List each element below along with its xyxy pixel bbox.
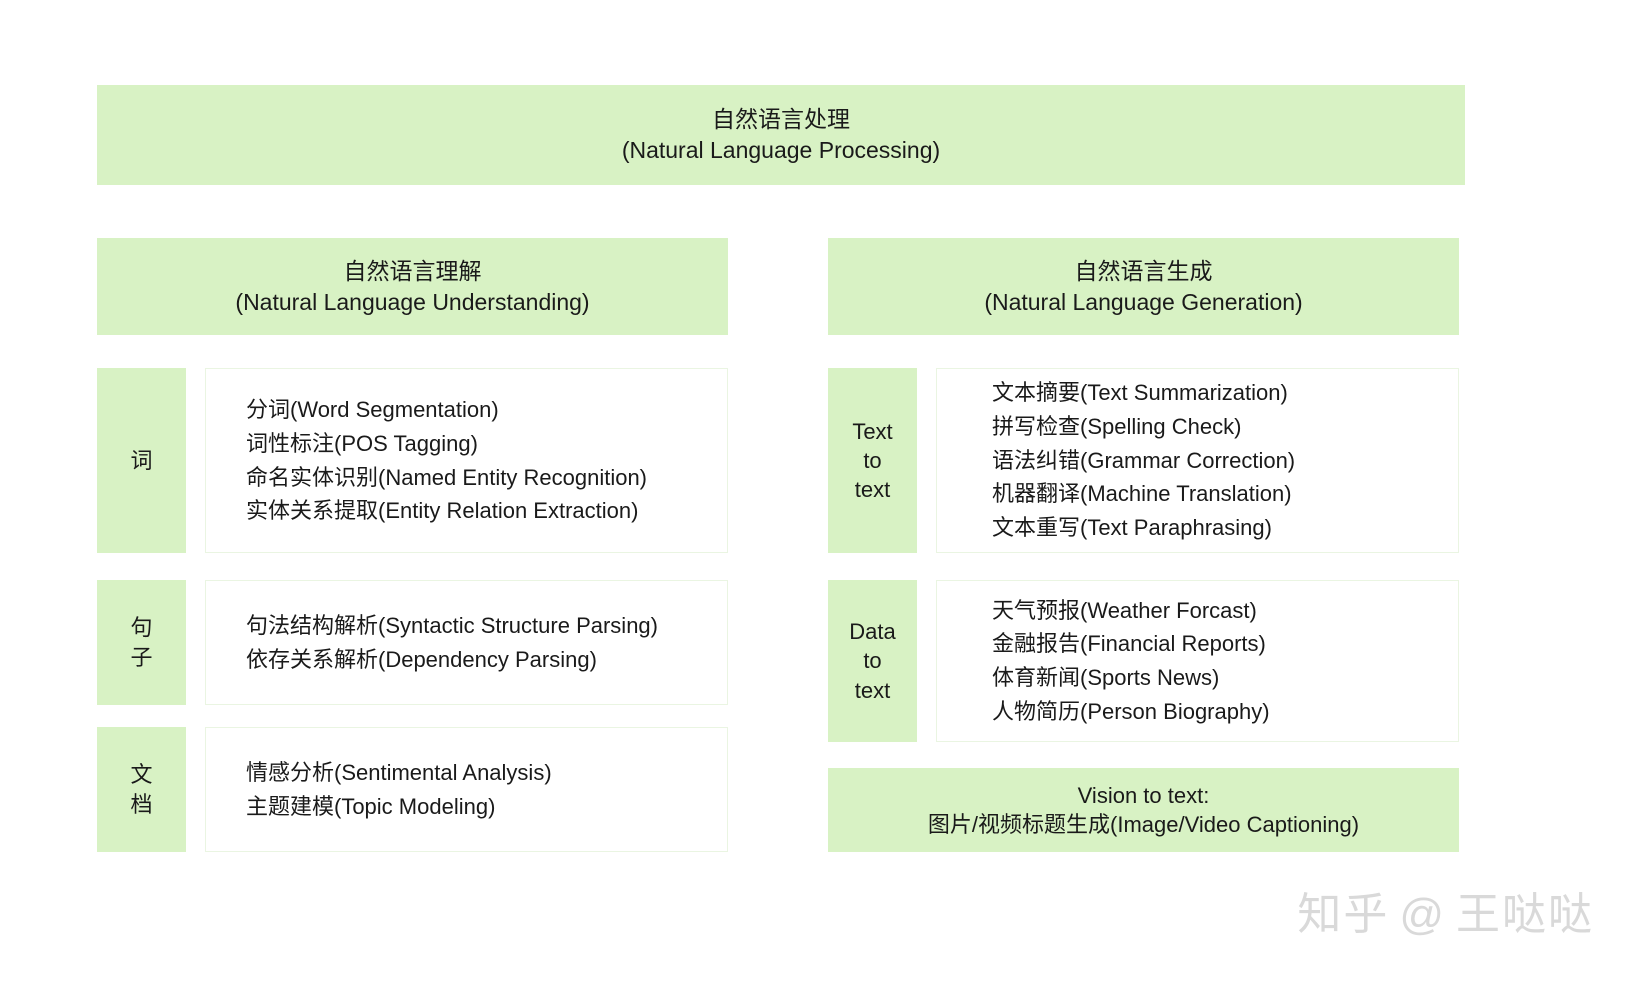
task-card-word: 分词(Word Segmentation) 词性标注(POS Tagging) … — [205, 368, 728, 553]
task-item: 命名实体识别(Named Entity Recognition) — [246, 461, 727, 495]
row-label-line: 子 — [130, 643, 152, 672]
nlu-title-en: (Natural Language Understanding) — [235, 287, 589, 318]
row-label-line: Text — [852, 417, 892, 446]
root-node-natural-language-processing: 自然语言处理 (Natural Language Processing) — [97, 85, 1465, 185]
task-item: 人物简历(Person Biography) — [992, 695, 1458, 729]
row-label-data-to-text: Data to text — [828, 580, 917, 742]
nlg-title-zh: 自然语言生成 — [1075, 256, 1213, 287]
task-item: 语法纠错(Grammar Correction) — [992, 444, 1458, 478]
row-label-text-to-text: Text to text — [828, 368, 917, 553]
task-list-word: 分词(Word Segmentation) 词性标注(POS Tagging) … — [246, 393, 727, 528]
row-label-line: text — [855, 475, 890, 504]
task-item: 情感分析(Sentimental Analysis) — [246, 756, 727, 790]
branch-node-natural-language-understanding: 自然语言理解 (Natural Language Understanding) — [97, 238, 728, 335]
task-item: 天气预报(Weather Forcast) — [992, 594, 1458, 628]
watermark-site: 知乎 — [1297, 890, 1389, 939]
task-item: 词性标注(POS Tagging) — [246, 427, 727, 461]
nlg-title-en: (Natural Language Generation) — [984, 287, 1302, 318]
task-item: 文本摘要(Text Summarization) — [992, 376, 1458, 410]
root-title-en: (Natural Language Processing) — [622, 135, 940, 166]
watermark-at: @ — [1399, 890, 1446, 939]
task-item: 句法结构解析(Syntactic Structure Parsing) — [246, 609, 727, 643]
row-label-line: 文 — [130, 760, 152, 789]
watermark-user: 王哒哒 — [1456, 890, 1594, 939]
nlu-title-zh: 自然语言理解 — [344, 256, 482, 287]
task-item: 主题建模(Topic Modeling) — [246, 790, 727, 824]
root-title-zh: 自然语言处理 — [712, 104, 850, 135]
row-label-line: 句 — [130, 613, 152, 642]
watermark: 知乎@王哒哒 — [1297, 878, 1594, 942]
row-label-line: 词 — [130, 446, 152, 475]
row-label-word: 词 — [97, 368, 186, 553]
row-label-document: 文 档 — [97, 727, 186, 852]
task-item: 体育新闻(Sports News) — [992, 661, 1458, 695]
row-label-sentence: 句 子 — [97, 580, 186, 705]
vision-to-text-heading: Vision to text: — [1078, 781, 1210, 810]
task-item: 依存关系解析(Dependency Parsing) — [246, 643, 727, 677]
task-item: 实体关系提取(Entity Relation Extraction) — [246, 494, 727, 528]
task-list-document: 情感分析(Sentimental Analysis) 主题建模(Topic Mo… — [246, 756, 727, 823]
task-item: 金融报告(Financial Reports) — [992, 627, 1458, 661]
row-label-line: to — [863, 646, 881, 675]
task-card-text-to-text: 文本摘要(Text Summarization) 拼写检查(Spelling C… — [936, 368, 1459, 553]
row-label-line: text — [855, 676, 890, 705]
task-card-data-to-text: 天气预报(Weather Forcast) 金融报告(Financial Rep… — [936, 580, 1459, 742]
task-list-sentence: 句法结构解析(Syntactic Structure Parsing) 依存关系… — [246, 609, 727, 676]
task-item: 机器翻译(Machine Translation) — [992, 477, 1458, 511]
row-label-line: 档 — [130, 790, 152, 819]
row-label-line: to — [863, 446, 881, 475]
task-card-vision-to-text: Vision to text: 图片/视频标题生成(Image/Video Ca… — [828, 768, 1459, 852]
branch-node-natural-language-generation: 自然语言生成 (Natural Language Generation) — [828, 238, 1459, 335]
task-card-document: 情感分析(Sentimental Analysis) 主题建模(Topic Mo… — [205, 727, 728, 852]
row-label-line: Data — [849, 617, 895, 646]
task-list-text-to-text: 文本摘要(Text Summarization) 拼写检查(Spelling C… — [992, 376, 1458, 544]
task-item: 分词(Word Segmentation) — [246, 393, 727, 427]
task-list-data-to-text: 天气预报(Weather Forcast) 金融报告(Financial Rep… — [992, 594, 1458, 729]
vision-to-text-item: 图片/视频标题生成(Image/Video Captioning) — [928, 810, 1359, 839]
task-card-sentence: 句法结构解析(Syntactic Structure Parsing) 依存关系… — [205, 580, 728, 705]
task-item: 文本重写(Text Paraphrasing) — [992, 511, 1458, 545]
nlp-taxonomy-diagram: 自然语言处理 (Natural Language Processing) 自然语… — [0, 0, 1632, 992]
task-item: 拼写检查(Spelling Check) — [992, 410, 1458, 444]
